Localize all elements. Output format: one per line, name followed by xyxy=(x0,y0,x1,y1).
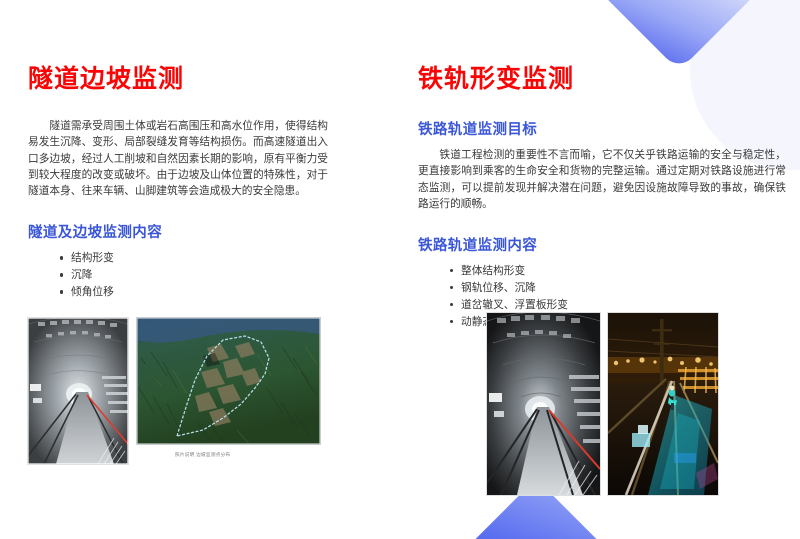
dark-tunnel-photo xyxy=(487,313,600,495)
left-bullet-list: 结构形变 沉降 倾角位移 xyxy=(28,250,328,301)
list-item: 倾角位移 xyxy=(58,284,328,301)
slope-aerial-photo xyxy=(137,318,320,444)
night-railway-photo xyxy=(608,313,718,495)
right-bullet-list: 整体结构形变 钢轨位移、沉降 道岔辙叉、浮置板形变 动静态荷载挠度 xyxy=(418,263,786,331)
tunnel-interior-photo xyxy=(28,318,128,464)
left-column: 隧道边坡监测 隧道需承受周围土体或岩石高围压和高水位作用，使得结构易发生沉降、变… xyxy=(28,64,328,301)
right-content-heading: 铁路轨道监测内容 xyxy=(418,234,786,255)
slope-photo-caption: 照片说明 边坡监测点分布 xyxy=(175,452,230,458)
right-paragraph: 铁道工程检测的重要性不言而喻，它不仅关乎铁路运输的安全与稳定性，更直接影响到乘客… xyxy=(418,147,786,212)
list-item: 沉降 xyxy=(58,267,328,284)
left-content-heading: 隧道及边坡监测内容 xyxy=(28,221,328,242)
right-goal-heading: 铁路轨道监测目标 xyxy=(418,118,786,139)
left-section-title: 隧道边坡监测 xyxy=(28,64,328,94)
list-item: 整体结构形变 xyxy=(448,263,786,280)
left-paragraph: 隧道需承受周围土体或岩石高围压和高水位作用，使得结构易发生沉降、变形、局部裂缝发… xyxy=(28,118,328,199)
slide-page: 隧道边坡监测 隧道需承受周围土体或岩石高围压和高水位作用，使得结构易发生沉降、变… xyxy=(0,0,800,539)
list-item: 结构形变 xyxy=(58,250,328,267)
list-item: 钢轨位移、沉降 xyxy=(448,280,786,297)
right-column: 铁轨形变监测 铁路轨道监测目标 铁道工程检测的重要性不言而喻，它不仅关乎铁路运输… xyxy=(418,64,786,331)
list-item: 道岔辙叉、浮置板形变 xyxy=(448,297,786,314)
right-section-title: 铁轨形变监测 xyxy=(418,64,786,94)
